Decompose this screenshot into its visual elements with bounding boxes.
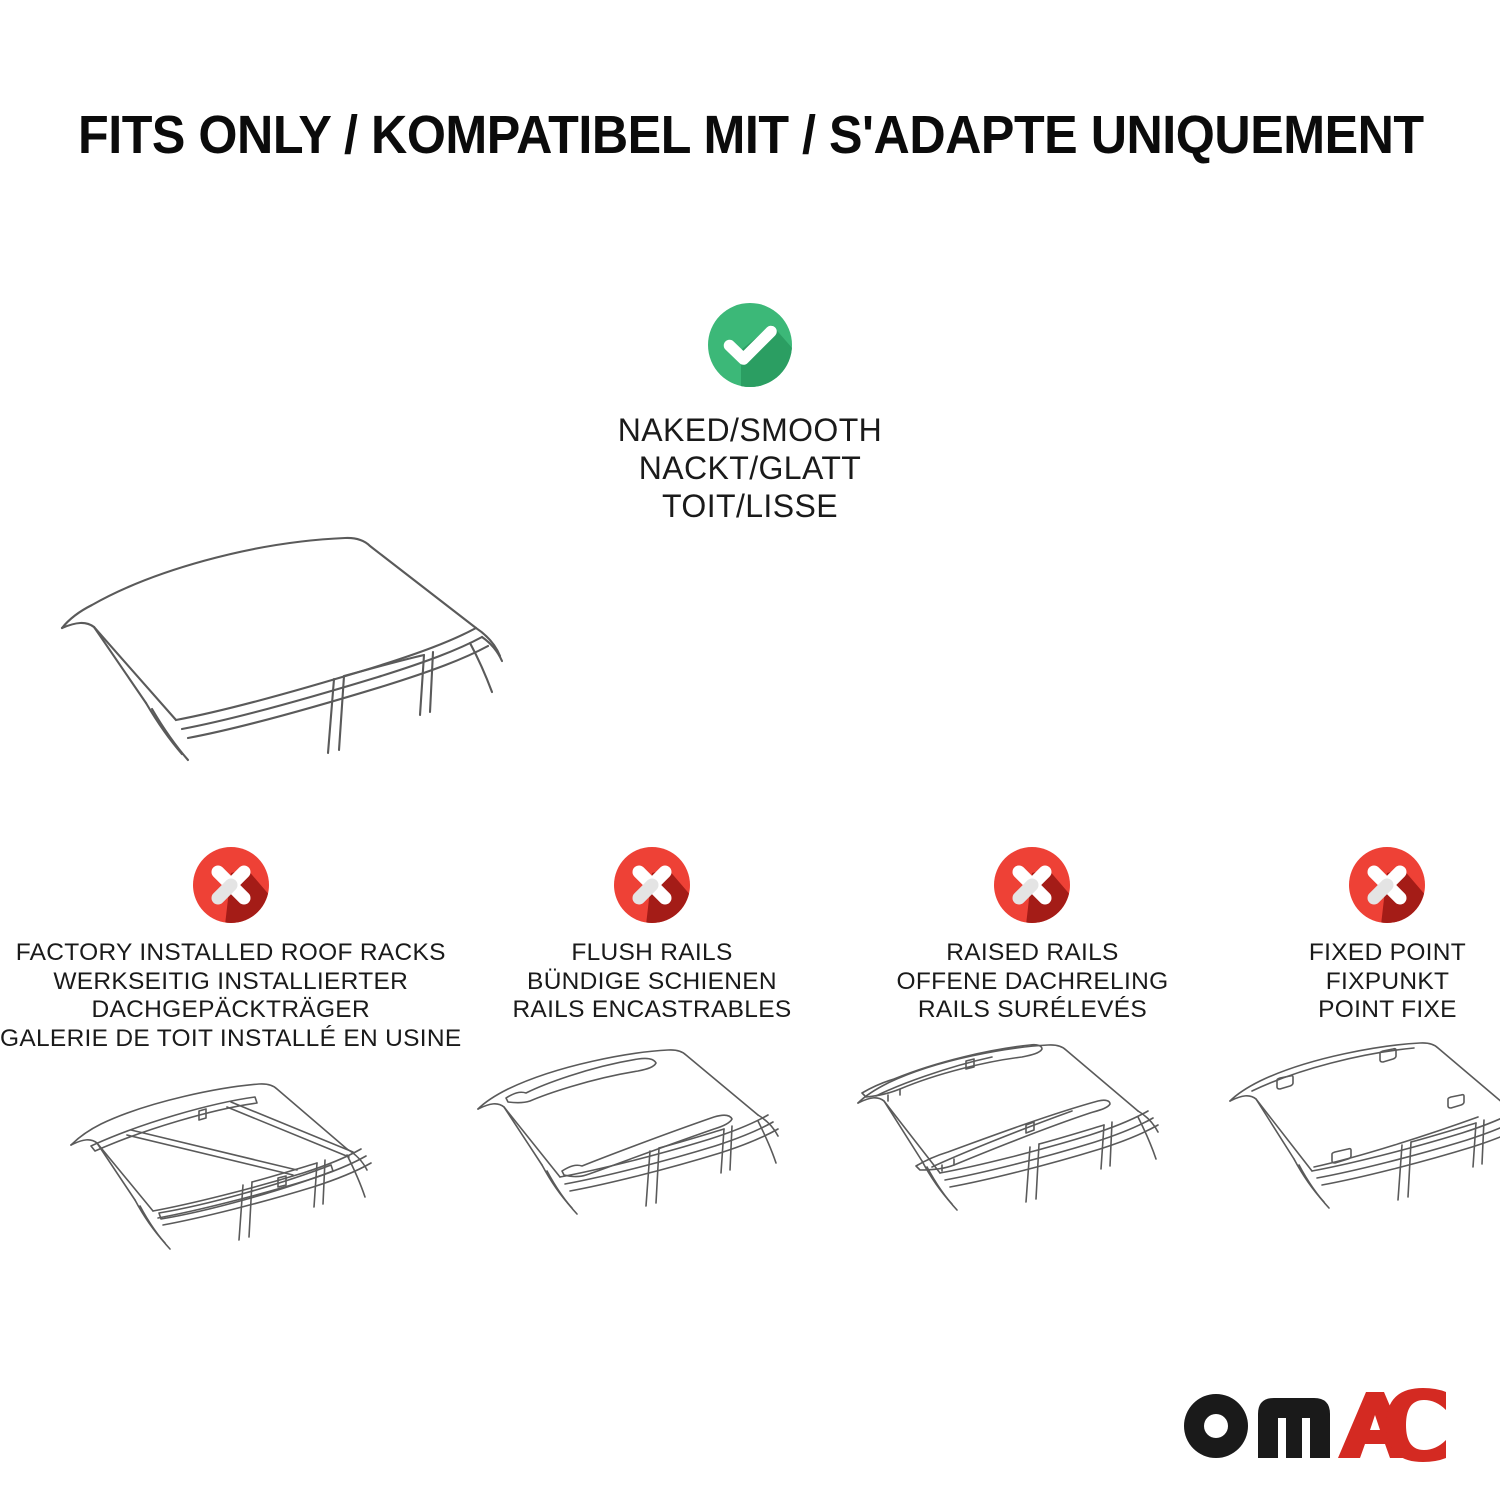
incompatible-item-fixed-point: FIXED POINT FIXPUNKT POINT FIXE — [1222, 845, 1500, 1254]
cross-circle-icon — [992, 845, 1072, 925]
cross-circle-icon — [1347, 845, 1427, 925]
compatible-section: NAKED/SMOOTH NACKT/GLATT TOIT/LISSE — [0, 295, 1500, 525]
cross-circle-icon — [612, 845, 692, 925]
caption-line: RAILS ENCASTRABLES — [512, 996, 791, 1025]
incompatible-caption: FLUSH RAILS BÜNDIGE SCHIENEN RAILS ENCAS… — [512, 939, 791, 1025]
check-circle-icon — [700, 295, 800, 395]
logo-letter-c — [1386, 1388, 1446, 1462]
caption-line: FIXED POINT — [1309, 939, 1466, 968]
caption-line: BÜNDIGE SCHIENEN — [512, 968, 791, 997]
caption-line: NAKED/SMOOTH — [0, 411, 1500, 449]
caption-line: RAISED RAILS — [897, 939, 1169, 968]
car-roof-factory-rack-illustration — [31, 1067, 431, 1282]
incompatible-item-raised-rails: RAISED RAILS OFFENE DACHRELING RAILS SUR… — [842, 845, 1222, 1254]
caption-line: OFFENE DACHRELING — [897, 968, 1169, 997]
car-roof-bare-illustration — [0, 510, 1500, 810]
cross-circle-icon — [191, 845, 271, 925]
caption-line: FACTORY INSTALLED ROOF RACKS — [0, 939, 461, 968]
car-roof-raised-rails-illustration — [842, 1039, 1222, 1254]
incompatible-caption: RAISED RAILS OFFENE DACHRELING RAILS SUR… — [897, 939, 1169, 1025]
incompatible-caption: FACTORY INSTALLED ROOF RACKS WERKSEITIG … — [0, 939, 461, 1053]
omac-logo — [1178, 1388, 1448, 1462]
incompatible-item-factory-racks: FACTORY INSTALLED ROOF RACKS WERKSEITIG … — [0, 845, 461, 1282]
incompatible-item-flush-rails: FLUSH RAILS BÜNDIGE SCHIENEN RAILS ENCAS… — [461, 845, 842, 1254]
page-title: FITS ONLY / KOMPATIBEL MIT / S'ADAPTE UN… — [78, 104, 1334, 166]
logo-letter-o — [1184, 1394, 1248, 1458]
logo-letter-m — [1258, 1398, 1330, 1458]
caption-line: NACKT/GLATT — [0, 449, 1500, 487]
incompatible-section: FACTORY INSTALLED ROOF RACKS WERKSEITIG … — [0, 845, 1500, 1282]
caption-line: FLUSH RAILS — [512, 939, 791, 968]
caption-line: RAILS SURÉLEVÉS — [897, 996, 1169, 1025]
compatible-caption: NAKED/SMOOTH NACKT/GLATT TOIT/LISSE — [0, 411, 1500, 525]
caption-line: POINT FIXE — [1309, 996, 1466, 1025]
incompatible-caption: FIXED POINT FIXPUNKT POINT FIXE — [1309, 939, 1466, 1025]
caption-line: DACHGEPÄCKTRÄGER — [0, 996, 461, 1025]
car-roof-fixed-point-illustration — [1222, 1039, 1500, 1254]
caption-line: FIXPUNKT — [1309, 968, 1466, 997]
caption-line: WERKSEITIG INSTALLIERTER — [0, 968, 461, 997]
car-roof-flush-rails-illustration — [462, 1039, 842, 1254]
caption-line: GALERIE DE TOIT INSTALLÉ EN USINE — [0, 1025, 461, 1054]
